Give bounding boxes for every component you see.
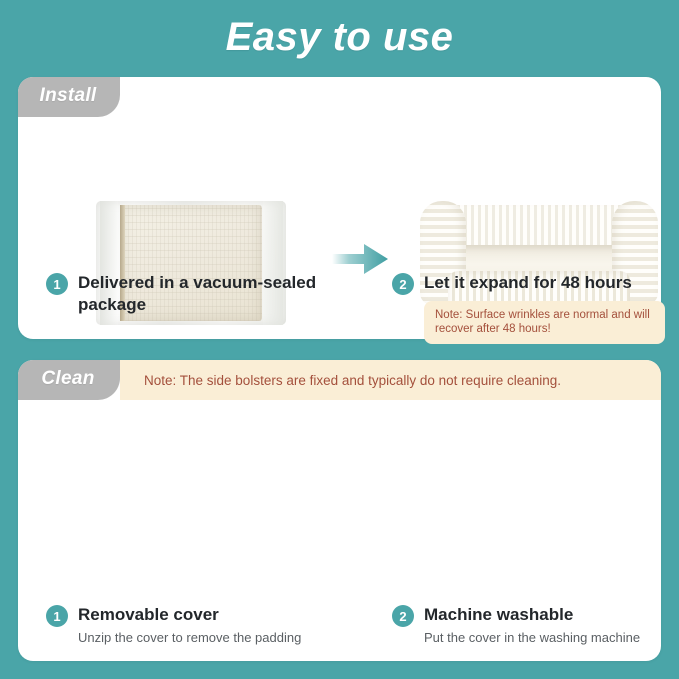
install-step-2: 2 Let it expand for 48 hours Note: Surfa… (392, 272, 656, 344)
step-number-badge: 1 (46, 273, 68, 295)
clean-step-2-subtitle: Put the cover in the washing machine (424, 628, 640, 647)
step-number-badge: 2 (392, 273, 414, 295)
step-body: Removable cover Unzip the cover to remov… (78, 604, 301, 647)
step-number-badge: 2 (392, 605, 414, 627)
install-step-2-title: Let it expand for 48 hours (424, 272, 665, 294)
step-body: Delivered in a vacuum-sealed package (78, 272, 346, 316)
page-title: Easy to use (0, 8, 679, 66)
clean-step-2: 2 Machine washable Put the cover in the … (392, 604, 662, 647)
section-tab-install: Install (18, 77, 120, 117)
section-tab-install-label: Install (39, 85, 96, 107)
clean-step-1: 1 Removable cover Unzip the cover to rem… (46, 604, 366, 647)
install-step-1-title: Delivered in a vacuum-sealed package (78, 272, 346, 316)
step-body: Machine washable Put the cover in the wa… (424, 604, 640, 647)
step-number-badge: 1 (46, 605, 68, 627)
infographic-page: Easy to use (0, 0, 679, 679)
clean-step-2-title: Machine washable (424, 604, 640, 626)
section-tab-clean-label: Clean (41, 368, 94, 390)
install-step-1: 1 Delivered in a vacuum-sealed package (46, 272, 346, 316)
section-tab-clean: Clean (18, 360, 120, 400)
arrow-right-icon (332, 242, 388, 276)
wrinkle-note-box: Note: Surface wrinkles are normal and wi… (424, 301, 665, 344)
clean-step-1-title: Removable cover (78, 604, 301, 626)
step-body: Let it expand for 48 hours Note: Surface… (424, 272, 665, 344)
clean-top-note-bar: Note: The side bolsters are fixed and ty… (120, 360, 661, 400)
clean-top-note-text: Note: The side bolsters are fixed and ty… (144, 372, 561, 389)
clean-step-1-subtitle: Unzip the cover to remove the padding (78, 628, 301, 647)
wrinkle-note-text: Note: Surface wrinkles are normal and wi… (435, 308, 654, 336)
